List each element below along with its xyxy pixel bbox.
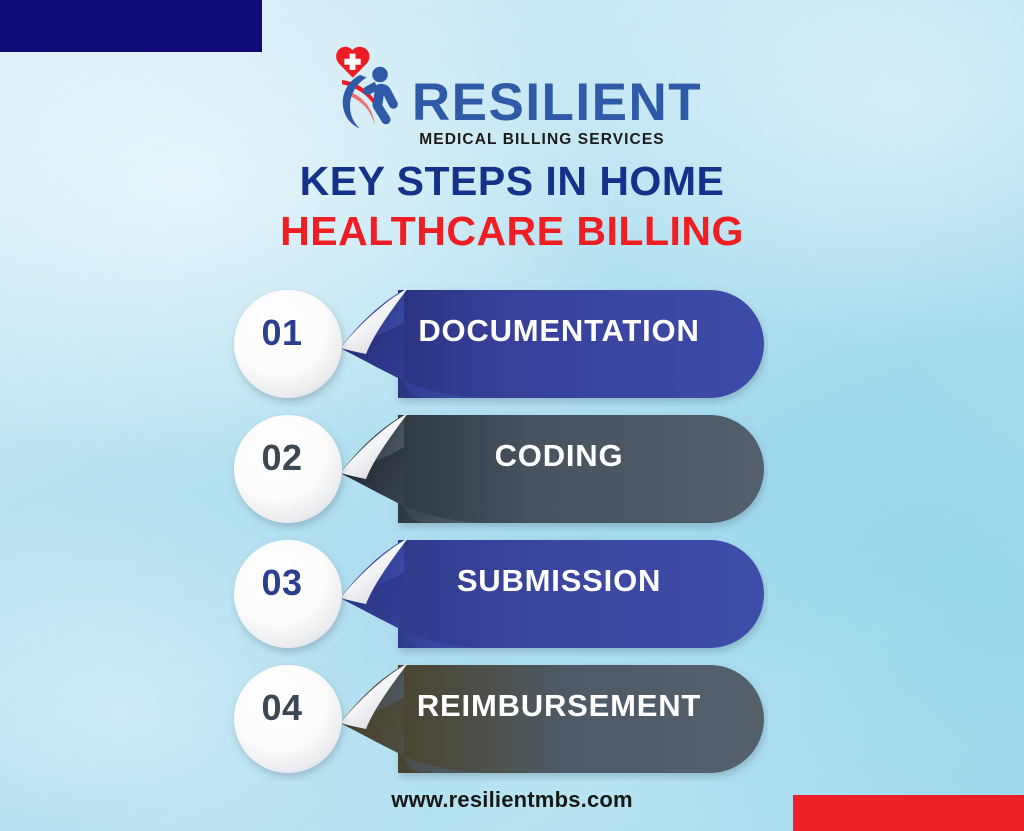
list-item[interactable]: 03 SUBMISSION — [0, 532, 1024, 657]
step-number: 01 — [236, 312, 328, 354]
page-title: KEY STEPS IN HOME HEALTHCARE BILLING — [0, 156, 1024, 256]
brand-tagline: MEDICAL BILLING SERVICES — [419, 131, 664, 149]
step-number: 04 — [236, 687, 328, 729]
list-item[interactable]: 01 DOCUMENTATION — [0, 282, 1024, 407]
title-line-2: HEALTHCARE BILLING — [0, 206, 1024, 256]
step-label: SUBMISSION — [360, 563, 758, 599]
list-item[interactable]: 02 CODING — [0, 407, 1024, 532]
heart-cross-icon — [336, 47, 369, 78]
step-label: REIMBURSEMENT — [360, 688, 758, 724]
title-line-1: KEY STEPS IN HOME — [0, 156, 1024, 206]
step-number: 03 — [236, 562, 328, 604]
step-label: DOCUMENTATION — [360, 313, 758, 349]
logo-mark-icon — [322, 44, 418, 128]
step-number: 02 — [236, 437, 328, 479]
step-label: CODING — [360, 438, 758, 474]
list-item[interactable]: 04 REIMBURSEMENT — [0, 657, 1024, 782]
website-url[interactable]: www.resilientmbs.com — [0, 787, 1024, 813]
brand-wordmark: RESILIENT — [412, 79, 702, 128]
infographic-canvas: RESILIENT MEDICAL BILLING SERVICES KEY S… — [0, 0, 1024, 831]
brand-logo: RESILIENT MEDICAL BILLING SERVICES — [0, 44, 1024, 149]
steps-list: 01 DOCUMENTATION — [0, 282, 1024, 782]
